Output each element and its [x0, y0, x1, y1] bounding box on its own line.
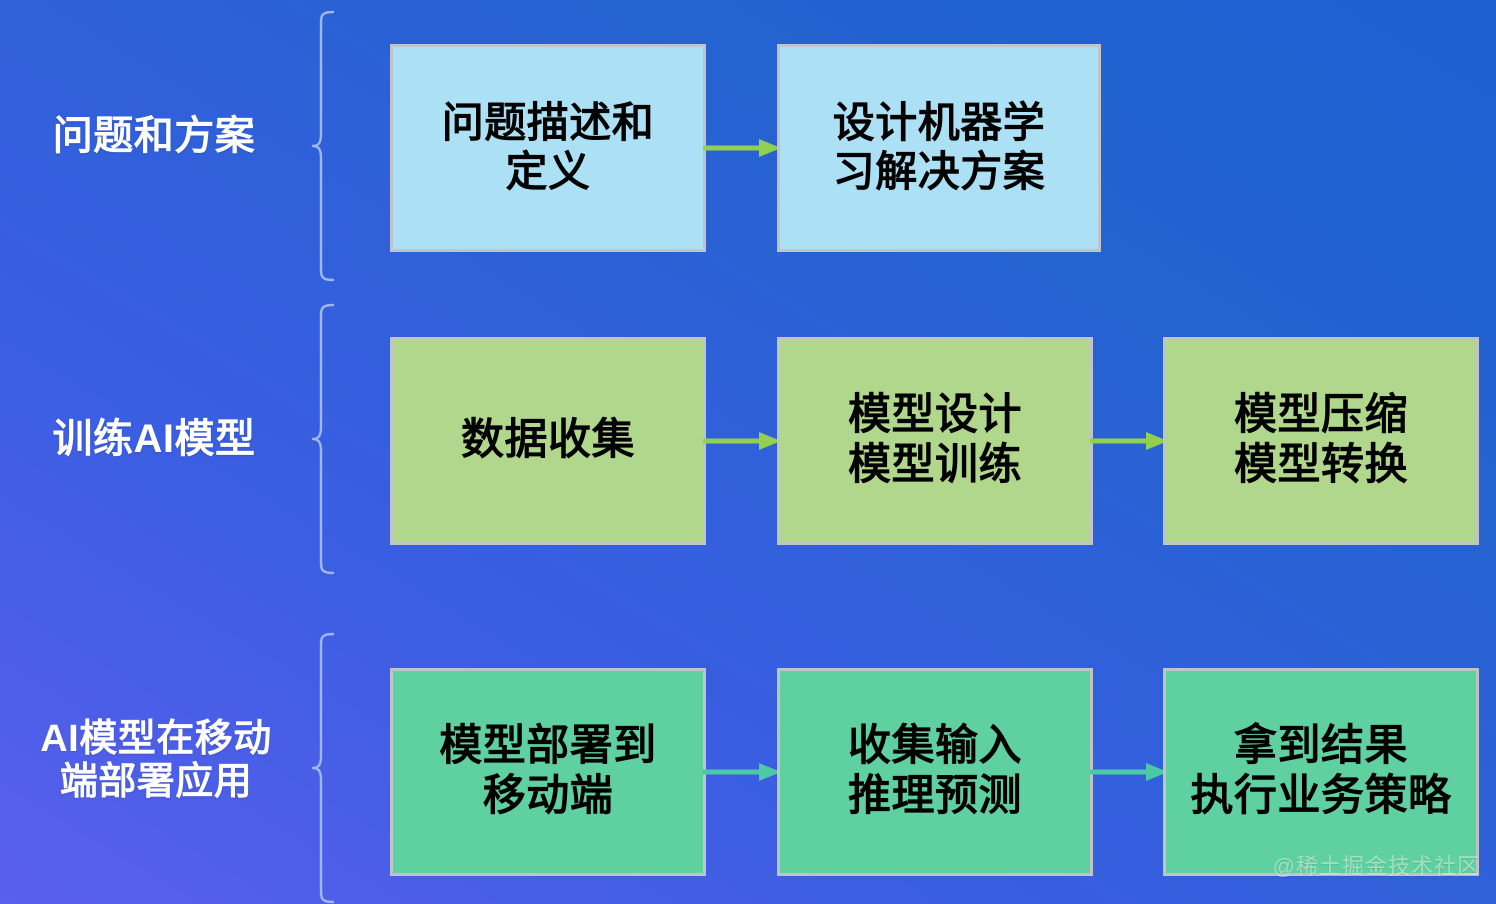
- node-model-compression-conversion[interactable]: 模型压缩 模型转换: [1163, 337, 1479, 545]
- slide-canvas: 问题和方案 问题描述和 定义 设计机器学 习解决方案 训练AI模型 数据收集: [0, 0, 1496, 904]
- row-label-problem-and-solution: 问题和方案: [16, 114, 292, 160]
- node-deploy-model-to-mobile[interactable]: 模型部署到 移动端: [390, 668, 706, 876]
- node-collect-input-inference[interactable]: 收集输入 推理预测: [777, 668, 1093, 876]
- arrow-icon-row2-0: [703, 759, 781, 785]
- brace-icon-row-2: [311, 632, 337, 904]
- node-data-collection[interactable]: 数据收集: [390, 337, 706, 545]
- row-label-mobile-deployment: AI模型在移动 端部署应用: [6, 718, 306, 805]
- arrow-icon-row0-0: [703, 135, 781, 161]
- arrow-icon-row2-1: [1090, 759, 1168, 785]
- node-problem-description[interactable]: 问题描述和 定义: [390, 44, 706, 252]
- node-get-result-execute-business[interactable]: 拿到结果 执行业务策略: [1163, 668, 1479, 876]
- watermark-label: @稀土掘金技术社区: [1273, 849, 1480, 881]
- brace-icon-row-1: [311, 303, 337, 575]
- arrow-icon-row1-1: [1090, 428, 1168, 454]
- node-model-design-training[interactable]: 模型设计 模型训练: [777, 337, 1093, 545]
- arrow-icon-row1-0: [703, 428, 781, 454]
- row-label-train-ai-model: 训练AI模型: [16, 417, 292, 463]
- node-design-ml-solution[interactable]: 设计机器学 习解决方案: [777, 44, 1101, 252]
- brace-icon-row-0: [311, 10, 337, 282]
